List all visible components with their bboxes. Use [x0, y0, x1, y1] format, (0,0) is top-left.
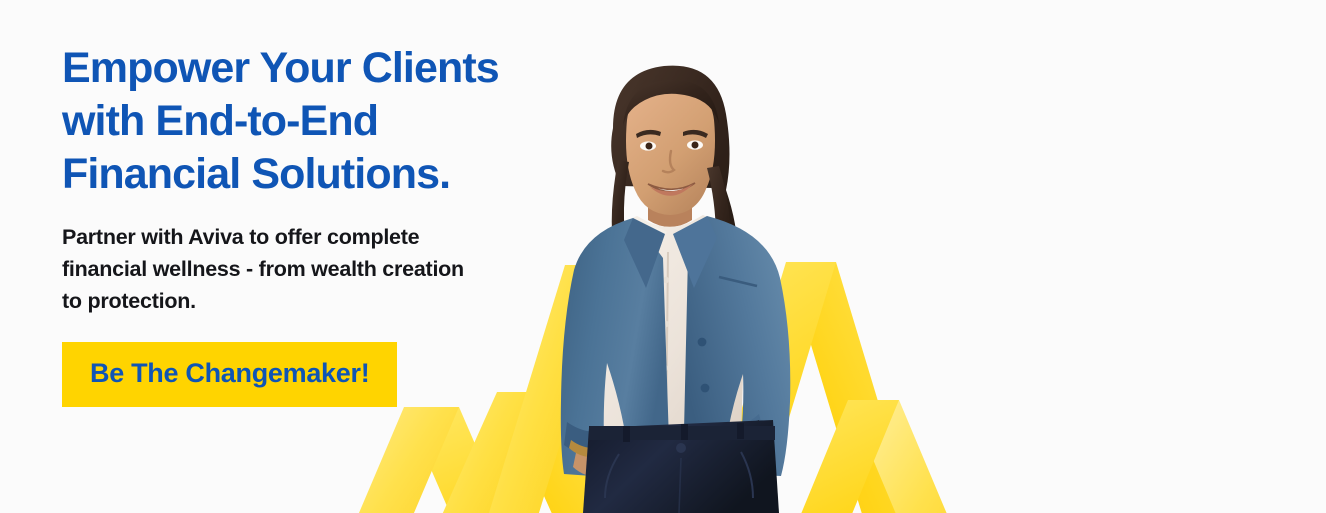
belt-loop-3	[737, 423, 744, 439]
pupil-right	[692, 142, 699, 149]
aviva-hero-banner: Empower Your Clients with End-to-End Fin…	[0, 0, 1326, 513]
page-title: Empower Your Clients with End-to-End Fin…	[62, 42, 532, 201]
be-the-changemaker-button[interactable]: Be The Changemaker!	[62, 342, 397, 407]
trouser-button	[676, 443, 686, 453]
blazer-button-bottom	[701, 384, 710, 393]
businesswoman-photo	[505, 56, 865, 513]
chevron-shape-9	[848, 400, 1000, 513]
pupil-left	[646, 143, 653, 150]
belt-loop-2	[681, 424, 688, 440]
banner-subheadline: Partner with Aviva to offer complete fin…	[62, 221, 532, 317]
belt-loop-1	[623, 426, 630, 442]
banner-copy: Empower Your Clients with End-to-End Fin…	[62, 42, 532, 407]
chevron-shape-2	[305, 407, 459, 513]
blazer-button-top	[698, 338, 707, 347]
